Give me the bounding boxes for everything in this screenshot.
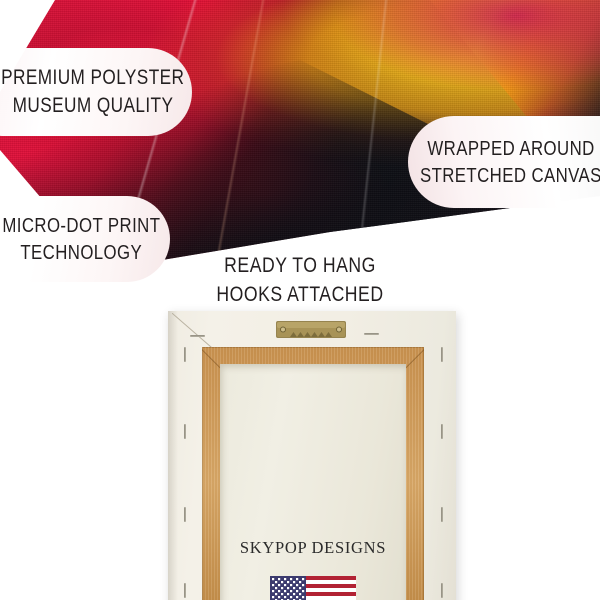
canvas-back-photo: SKYPOP DESIGNS bbox=[168, 311, 456, 600]
premium-polyster-badge: PREMIUM POLYSTER MUSEUM QUALITY bbox=[0, 48, 192, 136]
brand-label: SKYPOP DESIGNS bbox=[220, 538, 406, 558]
canvas-back-surface: SKYPOP DESIGNS bbox=[168, 311, 456, 600]
staple bbox=[364, 333, 379, 335]
staple bbox=[441, 347, 443, 362]
staple bbox=[441, 424, 443, 439]
badge-line: MUSEUM QUALITY bbox=[13, 92, 174, 120]
staple bbox=[190, 335, 205, 337]
staple bbox=[184, 424, 186, 439]
sawtooth-hanger-icon bbox=[276, 321, 346, 338]
badge-line: WRAPPED AROUND bbox=[427, 135, 594, 162]
wooden-stretcher-frame: SKYPOP DESIGNS bbox=[202, 347, 424, 600]
wrapped-around-badge: WRAPPED AROUND STRETCHED CANVAS bbox=[408, 116, 600, 208]
staple bbox=[184, 347, 186, 362]
canvas-inner-back: SKYPOP DESIGNS bbox=[220, 364, 406, 600]
badge-line: MICRO-DOT PRINT bbox=[2, 212, 160, 239]
staple bbox=[184, 583, 186, 598]
product-infographic: PREMIUM POLYSTER MUSEUM QUALITY WRAPPED … bbox=[0, 0, 600, 600]
us-flag-icon bbox=[270, 576, 356, 600]
staple bbox=[184, 507, 186, 522]
badge-line: PREMIUM POLYSTER bbox=[1, 64, 184, 92]
ready-to-hang-caption: READY TO HANG HOOKS ATTACHED bbox=[0, 252, 600, 309]
caption-line: HOOKS ATTACHED bbox=[48, 281, 552, 310]
caption-line: READY TO HANG bbox=[48, 252, 552, 281]
staple bbox=[441, 507, 443, 522]
badge-line: STRETCHED CANVAS bbox=[420, 162, 600, 189]
staple bbox=[441, 583, 443, 598]
